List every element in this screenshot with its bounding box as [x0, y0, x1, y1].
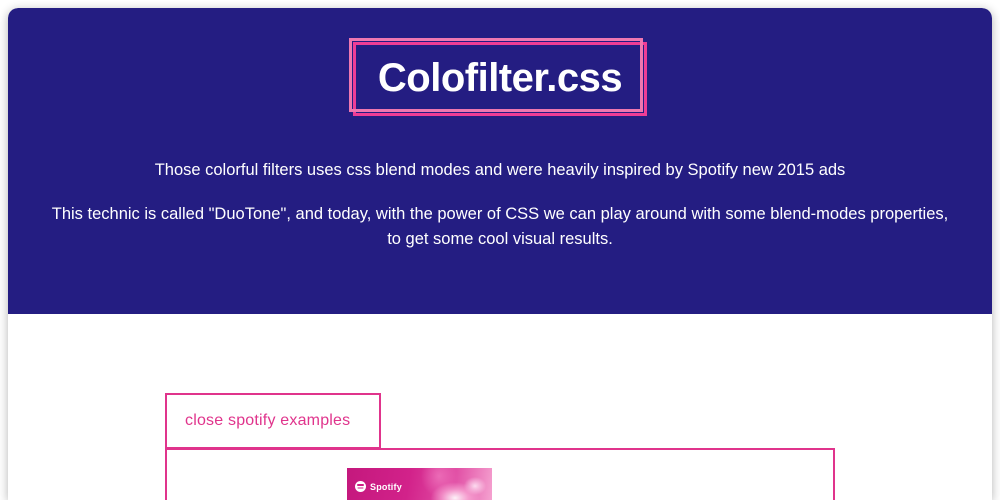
close-spotify-examples-button[interactable]: close spotify examples	[165, 393, 381, 449]
examples-panel: Spotify	[165, 448, 835, 500]
spotify-logo-icon	[355, 481, 366, 492]
spotify-wordmark: Spotify	[370, 482, 402, 492]
page-title-box: Colofilter.css	[353, 42, 647, 116]
close-spotify-examples-label: close spotify examples	[185, 412, 350, 430]
page-title-wrapper: Colofilter.css	[8, 42, 992, 116]
examples-section: close spotify examples Spotify	[8, 314, 992, 500]
hero-description: Those colorful filters uses css blend mo…	[48, 158, 952, 252]
hero-header: Colofilter.css Those colorful filters us…	[8, 8, 992, 314]
description-line-2: This technic is called "DuoTone", and to…	[48, 202, 952, 252]
spotify-example-card[interactable]: Spotify	[347, 468, 492, 500]
page-title: Colofilter.css	[378, 56, 622, 100]
description-line-1: Those colorful filters uses css blend mo…	[48, 158, 952, 183]
app-page: Colofilter.css Those colorful filters us…	[8, 8, 992, 500]
spotify-brand: Spotify	[355, 481, 402, 492]
